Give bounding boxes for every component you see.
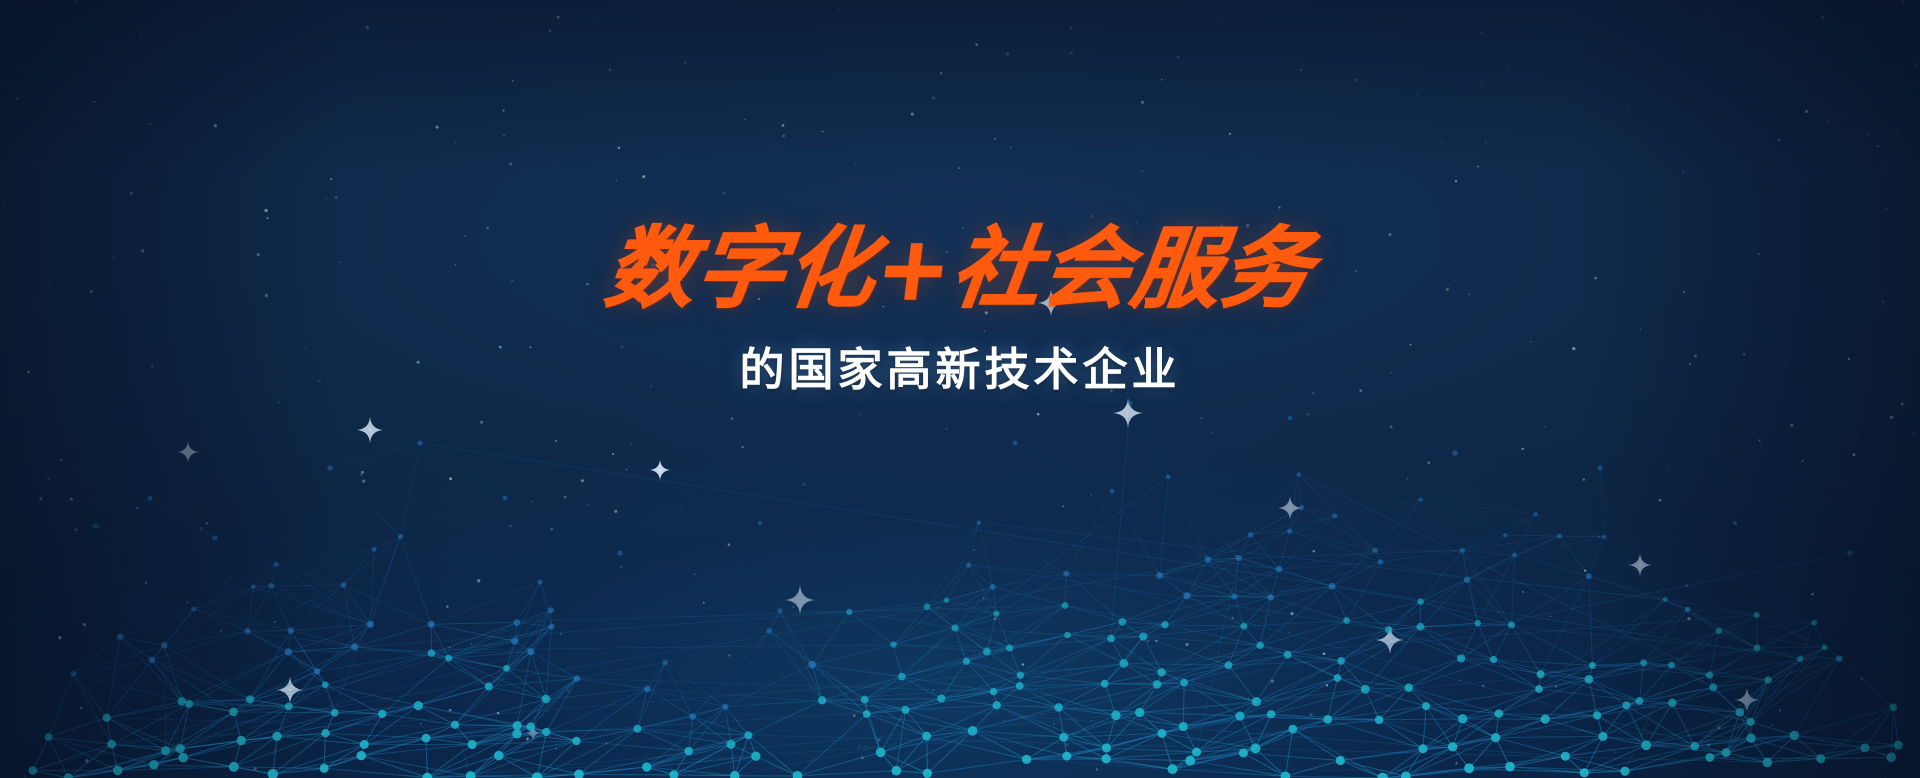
network-mesh-graphic: [0, 348, 1920, 778]
page-subtitle: 的国家高新技术企业: [0, 333, 1920, 398]
hero-text-block: 数字化+社会服务 的国家高新技术企业: [0, 222, 1920, 398]
page-title: 数字化+社会服务: [601, 222, 1318, 315]
hero-banner: 数字化+社会服务 的国家高新技术企业: [0, 0, 1920, 778]
